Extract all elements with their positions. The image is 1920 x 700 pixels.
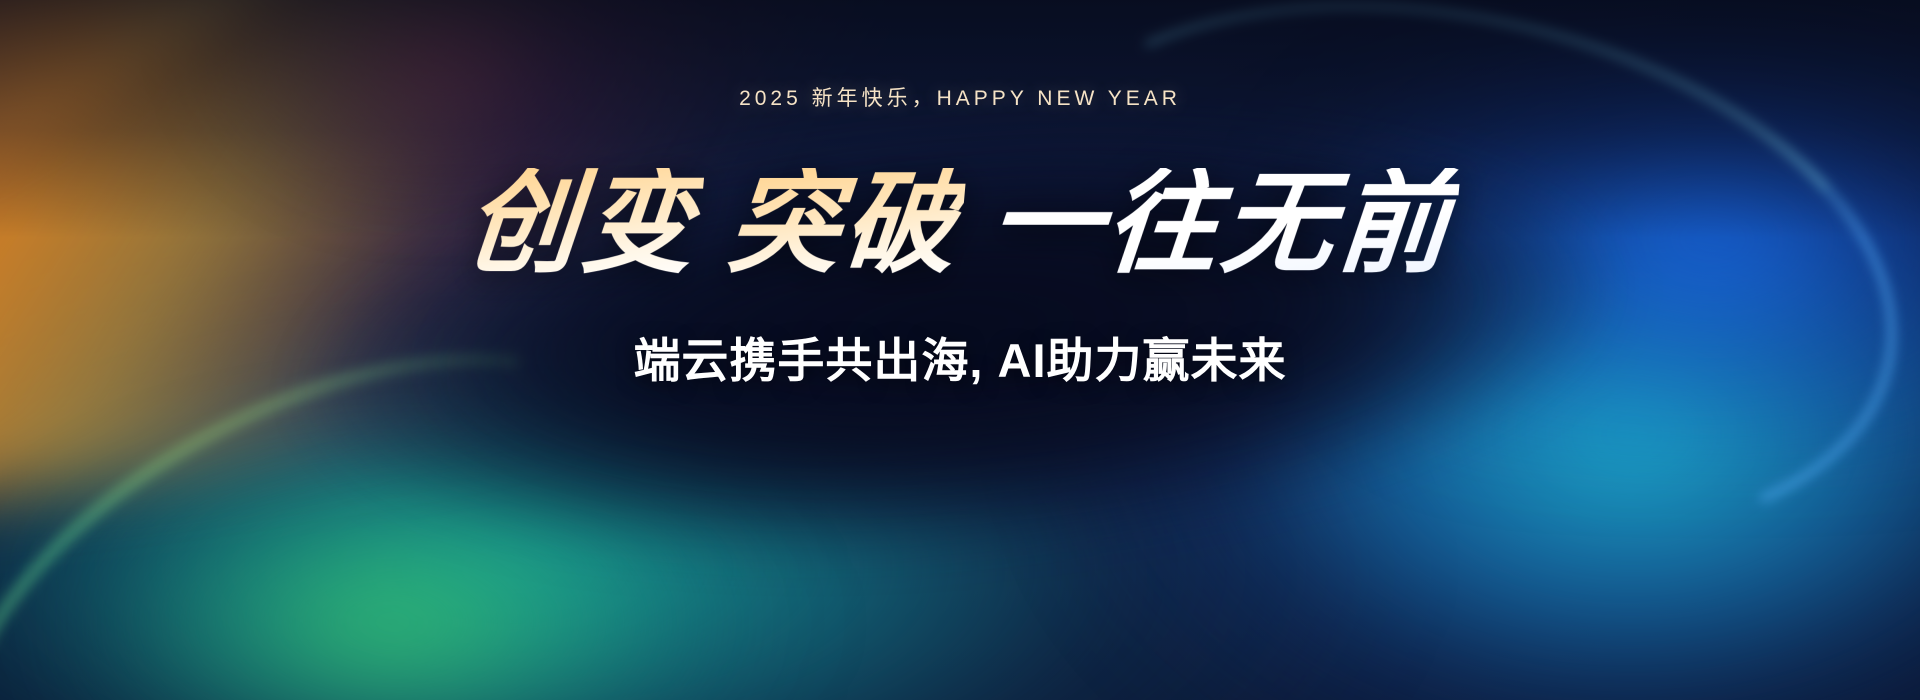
- eyebrow-text: 2025 新年快乐，HAPPY NEW YEAR: [739, 82, 1181, 112]
- banner-content: 2025 新年快乐，HAPPY NEW YEAR 创变 突破 一往无前 端云携手…: [0, 0, 1920, 700]
- promo-banner: 2025 新年快乐，HAPPY NEW YEAR 创变 突破 一往无前 端云携手…: [0, 0, 1920, 700]
- headline-segment-tupo: 突破: [721, 168, 967, 280]
- subtitle-text: 端云携手共出海, AI助力赢未来: [633, 322, 1286, 391]
- headline-segment-yiwangwuqian: 一往无前: [983, 168, 1461, 280]
- headline: 创变 突破 一往无前: [459, 168, 1461, 280]
- headline-segment-chuangbian: 创变: [459, 168, 705, 280]
